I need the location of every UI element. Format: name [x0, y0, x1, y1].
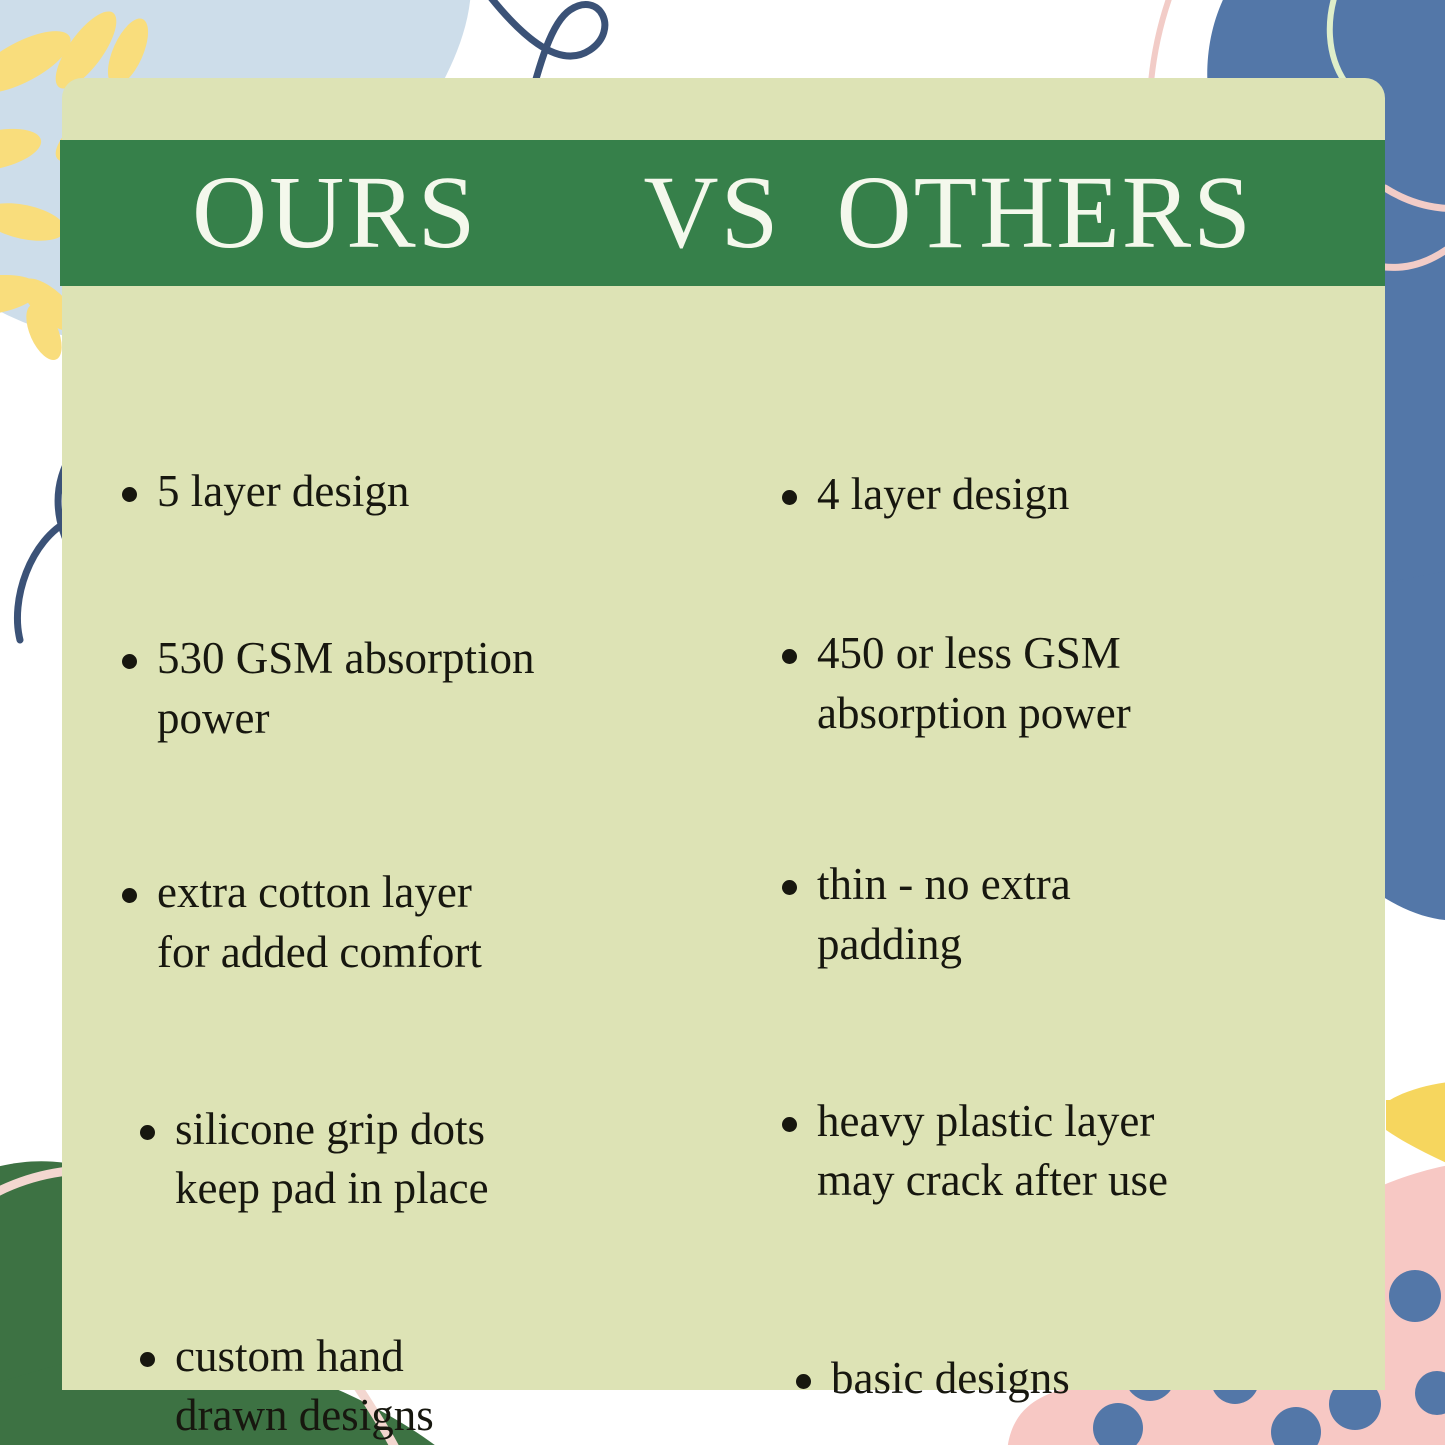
list-item-label: custom hand drawn designs: [175, 1327, 434, 1445]
list-item-label: heavy plastic layer may crack after use: [817, 1092, 1168, 1211]
list-item-label: thin - no extra padding: [817, 855, 1071, 974]
bullet-icon: [140, 1125, 155, 1140]
comparison-card: OURS VS OTHERS 5 layer design 530 GSM ab…: [62, 78, 1385, 1390]
list-item: 5 layer design: [122, 462, 728, 521]
list-item: extra cotton layer for added comfort: [122, 863, 728, 982]
bullet-icon: [122, 487, 137, 502]
comparison-columns: 5 layer design 530 GSM absorption power …: [62, 314, 1385, 1390]
list-item: custom hand drawn designs: [140, 1327, 728, 1445]
column-others: 4 layer design 450 or less GSM absorptio…: [752, 314, 1385, 1445]
bullet-icon: [122, 654, 137, 669]
bullet-icon: [782, 880, 797, 895]
list-item-label: basic designs: [831, 1349, 1070, 1408]
list-item-label: silicone grip dots keep pad in place: [175, 1100, 489, 1219]
list-item-label: 4 layer design: [817, 465, 1069, 524]
list-item: thin - no extra padding: [782, 855, 1367, 974]
page-title: OURS VS OTHERS: [192, 161, 1253, 265]
list-item: 450 or less GSM absorption power: [782, 624, 1367, 743]
bullet-icon: [796, 1374, 811, 1389]
bullet-icon: [782, 490, 797, 505]
list-item-label: 450 or less GSM absorption power: [817, 624, 1131, 743]
bullet-icon: [782, 649, 797, 664]
list-item-label: extra cotton layer for added comfort: [157, 863, 482, 982]
list-item: silicone grip dots keep pad in place: [140, 1100, 728, 1219]
column-ours: 5 layer design 530 GSM absorption power …: [62, 314, 752, 1445]
bullet-icon: [122, 888, 137, 903]
bullet-icon: [782, 1117, 797, 1132]
bullet-icon: [140, 1352, 155, 1367]
list-item-label: 530 GSM absorption power: [157, 629, 535, 748]
comparison-infographic: OURS VS OTHERS 5 layer design 530 GSM ab…: [0, 0, 1445, 1445]
list-item-label: 5 layer design: [157, 462, 409, 521]
list-item: 530 GSM absorption power: [122, 629, 728, 748]
list-item: heavy plastic layer may crack after use: [782, 1092, 1367, 1211]
header-band: OURS VS OTHERS: [60, 140, 1385, 286]
list-item: 4 layer design: [782, 465, 1367, 524]
list-item: basic designs: [796, 1349, 1367, 1408]
